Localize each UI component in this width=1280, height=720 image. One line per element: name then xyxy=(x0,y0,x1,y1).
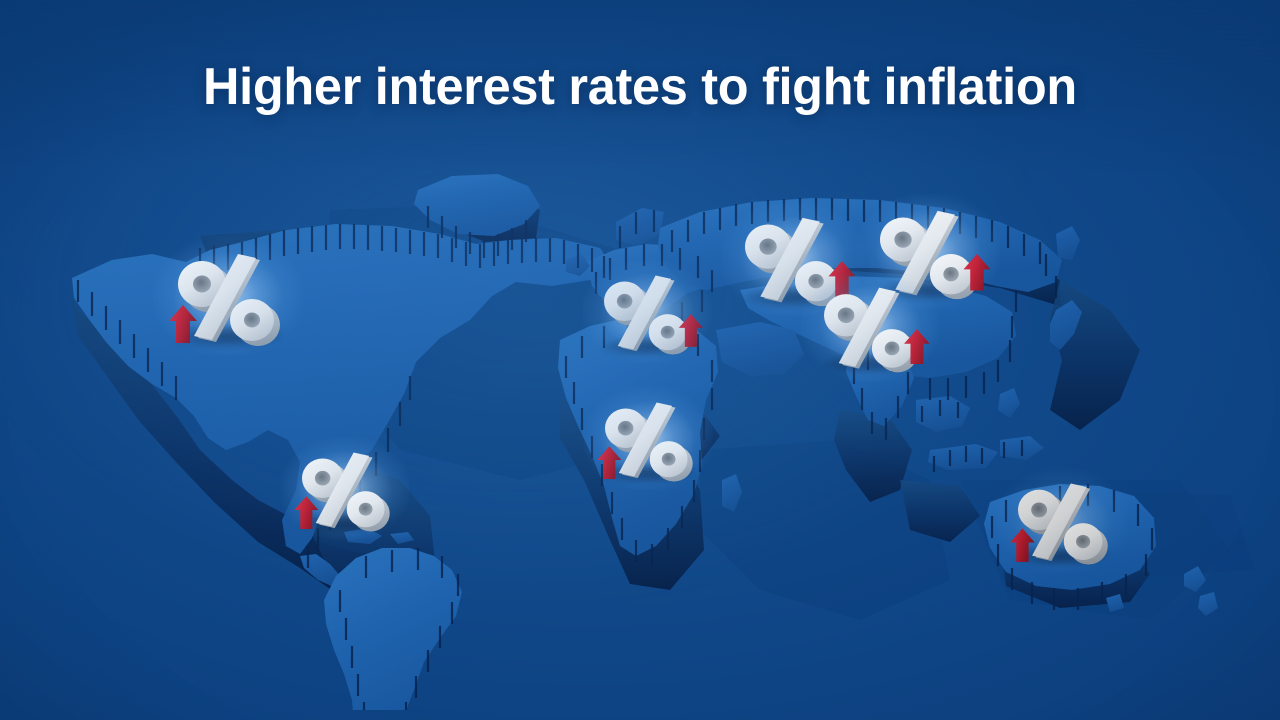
land-se-asia xyxy=(916,396,970,432)
up-arrow-icon xyxy=(1007,526,1037,565)
up-arrow-icon xyxy=(676,311,705,349)
land-middle-east xyxy=(716,322,804,376)
land-philippines xyxy=(998,388,1020,418)
slide-title: Higher interest rates to fight inflation xyxy=(19,58,1261,116)
slide-stage: Higher interest rates to fight inflation xyxy=(0,0,1280,720)
up-arrow-icon xyxy=(291,494,320,532)
marker-south-america[interactable] xyxy=(293,444,396,540)
marker-africa[interactable] xyxy=(596,394,699,490)
land-kamchatka xyxy=(1056,226,1080,260)
marker-europe[interactable] xyxy=(595,267,698,363)
land-scandinavia xyxy=(616,208,664,246)
up-arrow-icon xyxy=(901,326,932,366)
up-arrow-icon xyxy=(166,302,200,346)
marker-east-asia[interactable] xyxy=(815,278,925,381)
land-indonesia-1 xyxy=(928,444,998,470)
up-arrow-icon xyxy=(594,444,623,482)
marker-oceania[interactable] xyxy=(1009,475,1115,574)
land-new-zealand-2 xyxy=(1198,592,1218,616)
up-arrow-icon xyxy=(960,251,993,293)
marker-north-america[interactable] xyxy=(168,244,288,356)
